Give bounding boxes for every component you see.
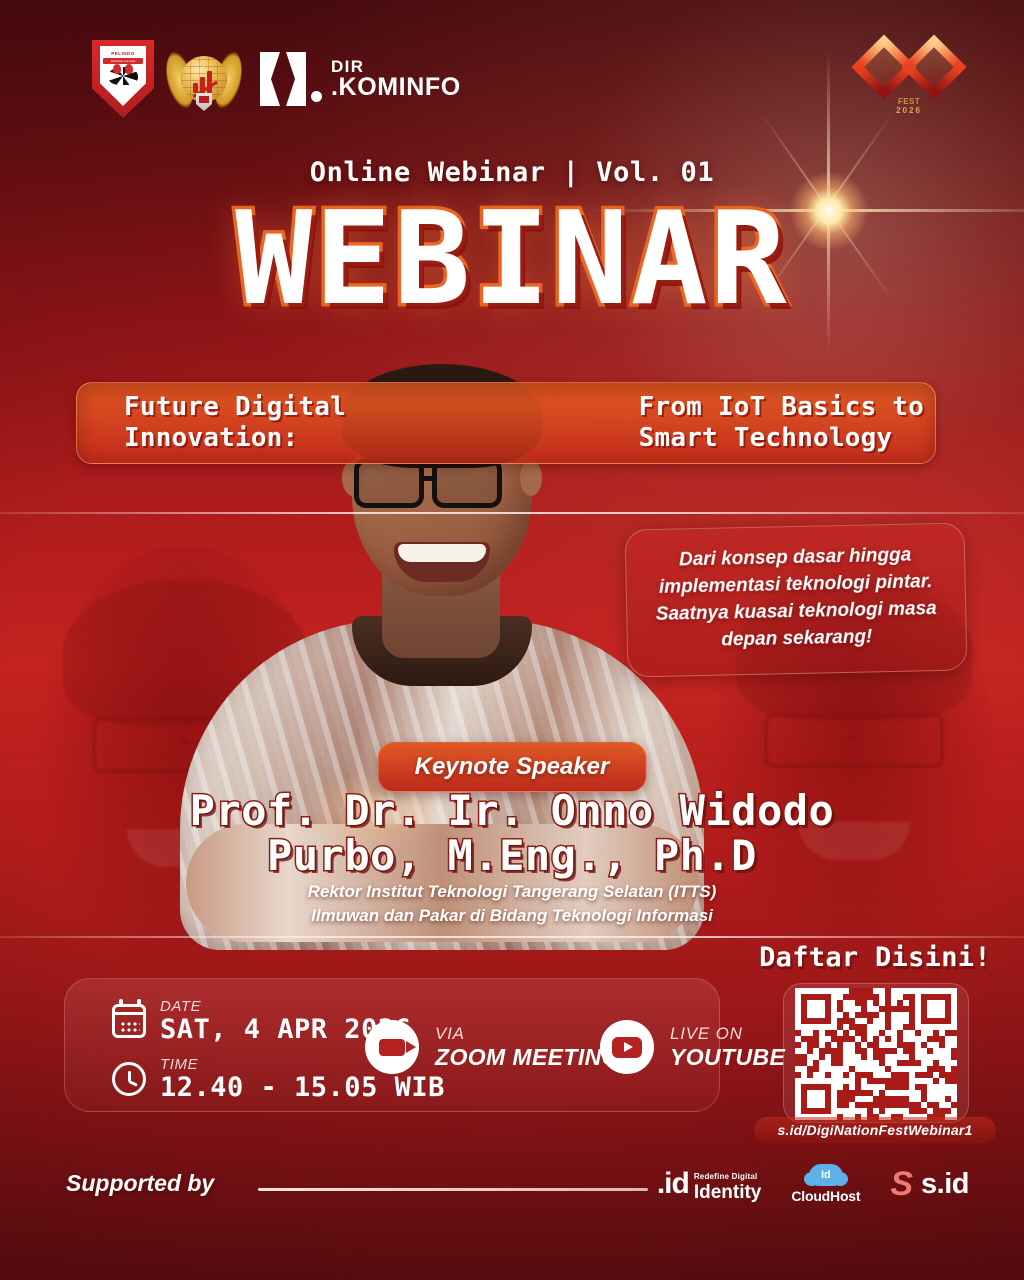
youtube-value: YOUTUBE	[670, 1044, 785, 1071]
pelindo-sublabel: Pelabuhan Indonesia	[103, 58, 143, 64]
subtitle-left: Future DigitalInnovation:	[124, 392, 346, 453]
zoom-meeting-group: VIA ZOOM MEETING	[365, 1020, 620, 1074]
dir-kominfo-logo: DIR .KOMINFO	[260, 52, 461, 106]
subtitle-right: From IoT Basics toSmart Technology	[639, 392, 924, 453]
callout-bubble: Dari konsep dasar hingga implementasi te…	[624, 522, 967, 677]
video-camera-icon	[365, 1020, 419, 1074]
kominfo-line2: .KOMINFO	[331, 75, 461, 101]
cloudhost-title: CloudHost	[791, 1188, 860, 1204]
supported-by-rule	[258, 1188, 648, 1191]
dot-id-mark: .id	[657, 1167, 689, 1201]
sponsor-logos: .id Redefine Digital Identity Id CloudHo…	[657, 1164, 969, 1204]
date-label: DATE	[160, 998, 411, 1015]
speaker-role-line2: Ilmuwan dan Pakar di Bidang Teknologi In…	[0, 904, 1024, 928]
register-heading: Daftar Disini!	[750, 942, 1000, 973]
header: PELINDO Pelabuhan Indonesia DIR .KOMINFO	[0, 0, 1024, 140]
sid-s-icon: S	[890, 1167, 913, 1201]
zoom-label: VIA	[435, 1024, 620, 1044]
qr-code[interactable]	[795, 988, 957, 1120]
keynote-speaker-badge: Keynote Speaker	[378, 742, 647, 792]
kominfo-k-icon	[260, 52, 306, 106]
page-title: WEBINAR	[0, 196, 1024, 324]
kominfo-dot-icon	[311, 91, 322, 102]
clock-icon	[112, 1062, 146, 1096]
supported-by-label: Supported by	[66, 1170, 214, 1197]
youtube-group: LIVE ON YOUTUBE	[600, 1020, 785, 1074]
pelindo-label: PELINDO	[111, 51, 135, 56]
youtube-icon	[600, 1020, 654, 1074]
fest-logo: FEST 2026	[854, 42, 964, 126]
wreath-globe-emblem	[168, 41, 240, 117]
speaker-role: Rektor Institut Teknologi Tangerang Sela…	[0, 880, 1024, 928]
speaker-name: Prof. Dr. Ir. Onno WidodoPurbo, M.Eng., …	[0, 788, 1024, 879]
cloud-icon: Id	[809, 1164, 843, 1186]
dot-id-title: Identity	[694, 1182, 762, 1203]
calendar-icon	[112, 1004, 146, 1038]
divider-bottom	[0, 936, 1024, 938]
fest-infinity-icon	[857, 42, 961, 96]
fest-year: 2026	[854, 106, 964, 115]
time-value: 12.40 - 15.05 WIB	[160, 1073, 445, 1102]
register-url[interactable]: s.id/DigiNationFestWebinar1	[754, 1117, 996, 1143]
sid-title: s.id	[921, 1168, 969, 1201]
divider-top	[0, 512, 1024, 514]
youtube-label: LIVE ON	[670, 1024, 785, 1044]
sid-logo: S s.id	[890, 1167, 969, 1201]
fest-name: FEST	[854, 97, 964, 106]
dot-id-identity-logo: .id Redefine Digital Identity	[657, 1167, 762, 1202]
cloudhost-logo: Id CloudHost	[791, 1164, 860, 1204]
partner-logos: PELINDO Pelabuhan Indonesia DIR .KOMINFO	[92, 40, 461, 118]
pelindo-shield-logo: PELINDO Pelabuhan Indonesia	[92, 40, 154, 118]
dot-id-tagline: Redefine Digital	[694, 1172, 758, 1181]
speaker-role-line1: Rektor Institut Teknologi Tangerang Sela…	[0, 880, 1024, 904]
eyebrow-text: Online Webinar | Vol. 01	[0, 157, 1024, 188]
zoom-value: ZOOM MEETING	[435, 1044, 620, 1071]
